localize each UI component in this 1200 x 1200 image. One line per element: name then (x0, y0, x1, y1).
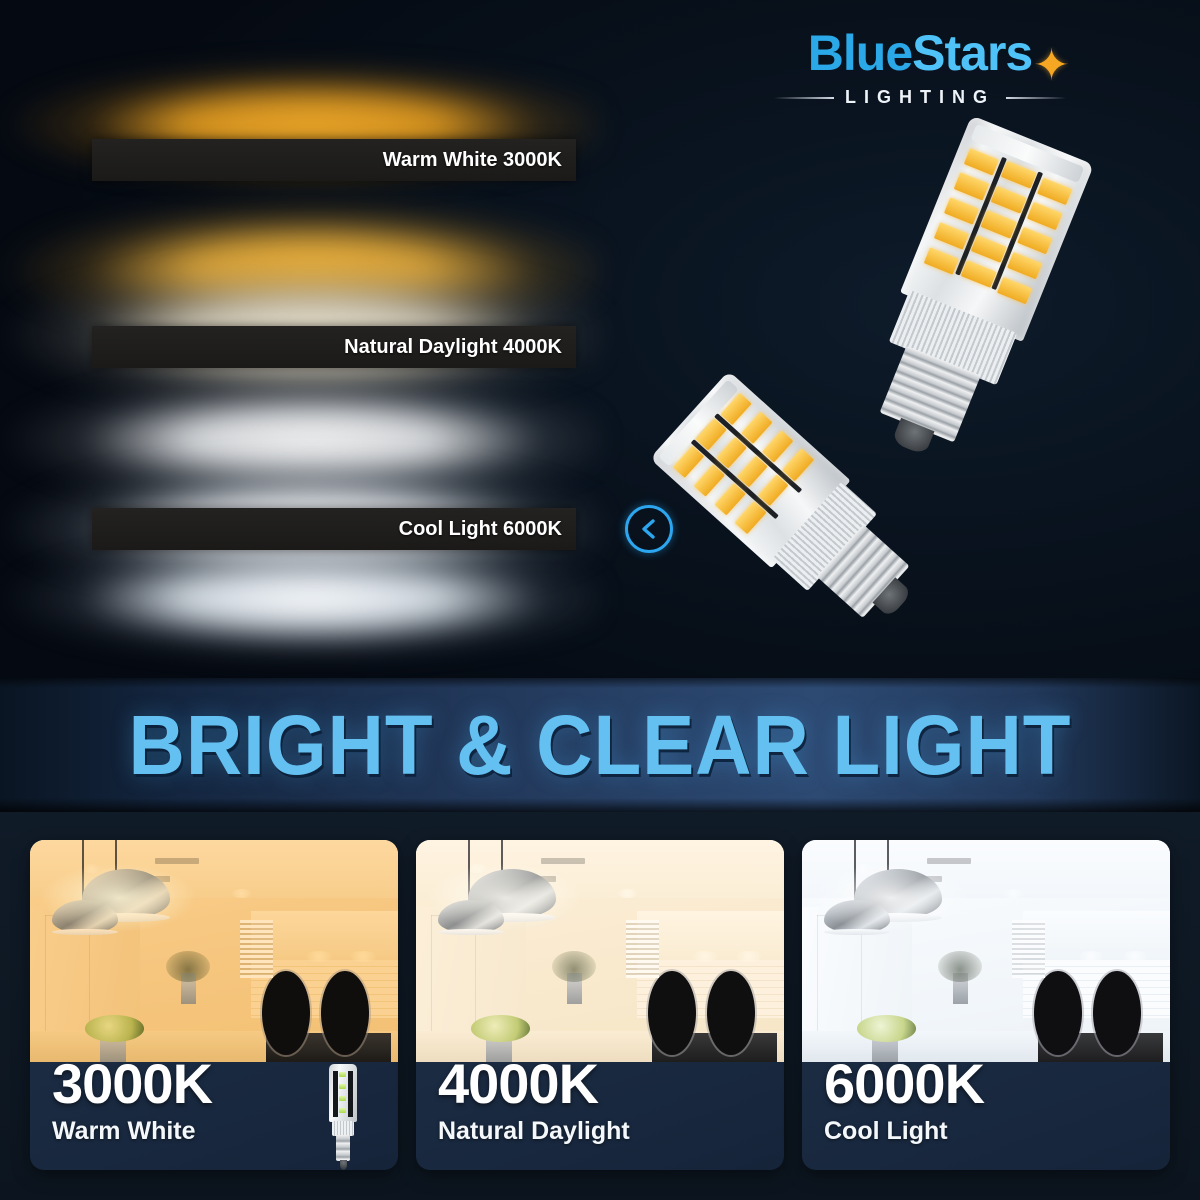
kelvin-value-6000k: 6000K (824, 1057, 984, 1112)
brand-wordmark: BlueStars (760, 28, 1080, 78)
headline-banner: BRIGHT & CLEAR LIGHT (0, 678, 1200, 812)
kelvin-caption-4000k: 4000K Natural Daylight (438, 1057, 630, 1146)
kitchen-scene (416, 840, 784, 1062)
kelvin-value-4000k: 4000K (438, 1057, 630, 1112)
chevron-left-icon (639, 517, 659, 541)
kelvin-name-3000k: Warm White (52, 1117, 212, 1146)
kelvin-card-6000k[interactable]: 6000K Cool Light (802, 840, 1170, 1170)
led-corn-bulb-e26 (848, 115, 1094, 470)
kelvin-card-4000k[interactable]: 4000K Natural Daylight (416, 840, 784, 1170)
color-temp-bar-4000k: Natural Daylight 4000K (92, 326, 576, 368)
color-temp-label-3000k: Warm White 3000K (383, 149, 562, 172)
brand-name-part1: Blue (808, 25, 912, 81)
glow-band-cool-bottom (0, 540, 600, 670)
kelvin-showcase-section: 3000K Warm White (0, 812, 1200, 1200)
kitchen-scene (802, 840, 1170, 1062)
color-temp-label-6000k: Cool Light 6000K (399, 518, 562, 541)
color-temp-label-4000k: Natural Daylight 4000K (344, 336, 562, 359)
star-icon: ✦ (1033, 44, 1070, 88)
kelvin-card-list: 3000K Warm White (30, 840, 1170, 1170)
mini-bulb-screw-base (336, 1135, 350, 1161)
brand-name-part2: Stars (912, 25, 1032, 81)
tagline-rule-left (774, 97, 834, 99)
mini-bulb-collar (332, 1121, 354, 1136)
previous-button[interactable] (625, 505, 673, 553)
mini-bulb-contact-tip (340, 1160, 347, 1170)
kelvin-caption-3000k: 3000K Warm White (52, 1057, 212, 1146)
brand-tagline: LIGHTING (845, 87, 995, 108)
color-temp-bar-3000k: Warm White 3000K (92, 139, 576, 181)
mini-bulb-glass (329, 1064, 357, 1122)
kitchen-scene (30, 840, 398, 1062)
kelvin-name-4000k: Natural Daylight (438, 1117, 630, 1146)
color-temperature-comparison-section: Warm White 3000K Natural Daylight 4000K … (0, 0, 1200, 678)
kitchen-photo-3000k (30, 840, 398, 1062)
tagline-rule-right (1006, 97, 1066, 99)
led-bulb-icon (325, 1064, 361, 1174)
color-temp-bar-6000k: Cool Light 6000K (92, 508, 576, 550)
brand-logo: BlueStars ✦ LIGHTING (760, 28, 1080, 120)
kelvin-value-3000k: 3000K (52, 1057, 212, 1112)
kelvin-name-6000k: Cool Light (824, 1117, 984, 1146)
banner-title: BRIGHT & CLEAR LIGHT (129, 697, 1072, 794)
kelvin-caption-6000k: 6000K Cool Light (824, 1057, 984, 1146)
brand-tagline-row: LIGHTING (760, 87, 1080, 108)
kitchen-photo-4000k (416, 840, 784, 1062)
kitchen-photo-6000k (802, 840, 1170, 1062)
